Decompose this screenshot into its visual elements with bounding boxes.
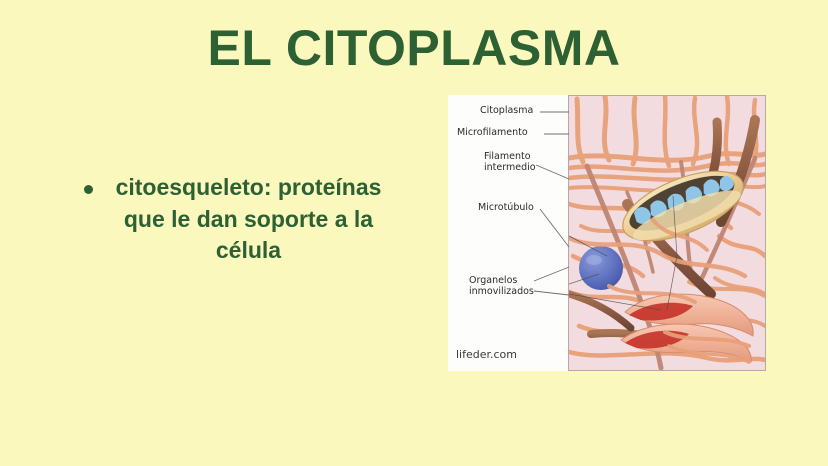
bullet-dot-icon [84, 185, 93, 194]
source-watermark: lifeder.com [456, 348, 517, 361]
bullet-item-label: citoesqueleto: proteínas que le dan sopo… [93, 172, 400, 267]
bullet-list: citoesqueleto: proteínas que le dan sopo… [60, 172, 400, 267]
slide-canvas: EL CITOPLASMA citoesqueleto: proteínas q… [0, 0, 828, 466]
list-item: citoesqueleto: proteínas que le dan sopo… [60, 172, 400, 267]
diagram-label-citoplasma: Citoplasma [480, 105, 533, 116]
page-title: EL CITOPLASMA [0, 22, 828, 75]
diagram-label-microtubulo: Microtúbulo [478, 202, 534, 213]
cytoskeleton-diagram-image: Citoplasma Microfilamento Filamento inte… [448, 95, 766, 371]
diagram-label-filamento-intermedio: Filamento intermedio [484, 151, 536, 173]
diagram-label-organelos-inmovilizados: Organelos inmovilizados [469, 275, 534, 297]
diagram-label-microfilamento: Microfilamento [457, 127, 528, 138]
